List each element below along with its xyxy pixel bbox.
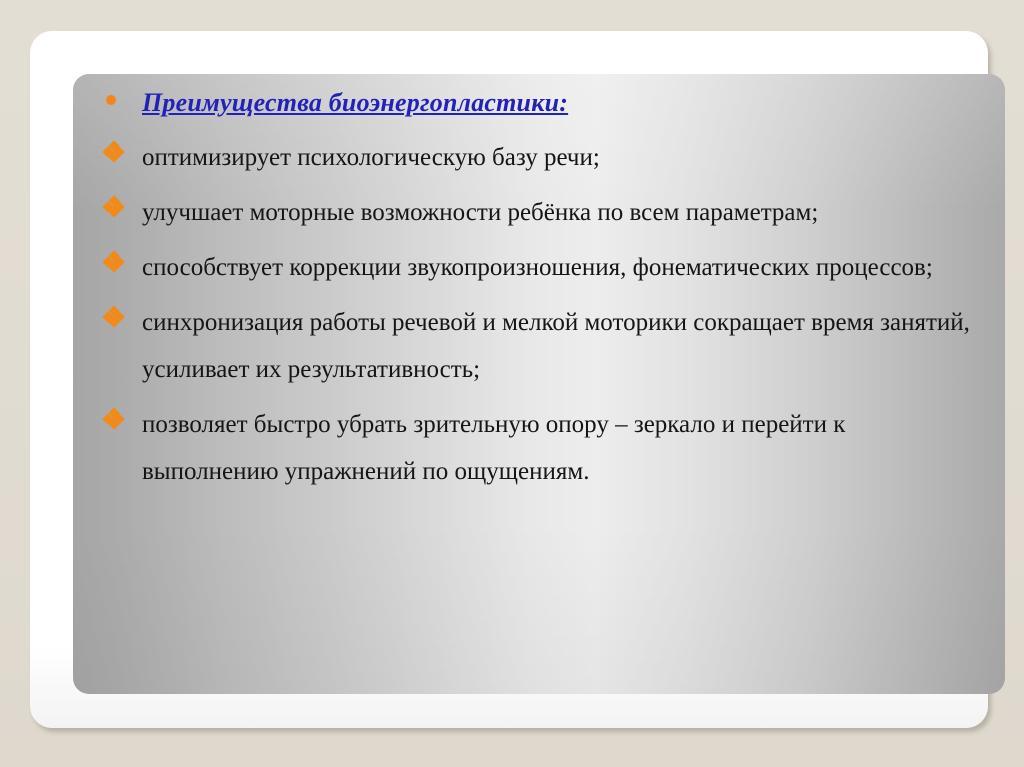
diamond-cluster-bullet-icon (104, 409, 130, 428)
slide-card: Преимущества биоэнергопластики: оптимизи… (30, 31, 988, 728)
list-item-text: синхронизация работы речевой и мелкой мо… (142, 309, 970, 383)
slide-content-panel: Преимущества биоэнергопластики: оптимизи… (73, 74, 1005, 694)
list-item-text: улучшает моторные возможности ребёнка по… (142, 199, 818, 226)
list-item: оптимизирует психологическую базу речи; (73, 134, 1005, 181)
diamond-cluster-bullet-icon (104, 307, 130, 326)
list-item-text: оптимизирует психологическую базу речи; (142, 144, 600, 171)
round-dot-bullet-icon (106, 95, 132, 105)
page-title: Преимущества биоэнергопластики: (142, 88, 568, 117)
slide-title-row: Преимущества биоэнергопластики: (73, 86, 1005, 120)
diamond-cluster-bullet-icon (104, 142, 130, 161)
list-item: синхронизация работы речевой и мелкой мо… (73, 299, 1005, 393)
slide-background: Преимущества биоэнергопластики: оптимизи… (0, 0, 1024, 767)
diamond-cluster-bullet-icon (104, 197, 130, 216)
slide-body: Преимущества биоэнергопластики: оптимизи… (73, 86, 1005, 503)
diamond-cluster-bullet-icon (104, 252, 130, 271)
list-item-text: позволяет быстро убрать зрительную опору… (142, 411, 845, 485)
list-item-text: способствует коррекции звукопроизношения… (142, 254, 933, 281)
list-item: позволяет быстро убрать зрительную опору… (73, 401, 1005, 495)
list-item: способствует коррекции звукопроизношения… (73, 244, 1005, 291)
list-item: улучшает моторные возможности ребёнка по… (73, 189, 1005, 236)
